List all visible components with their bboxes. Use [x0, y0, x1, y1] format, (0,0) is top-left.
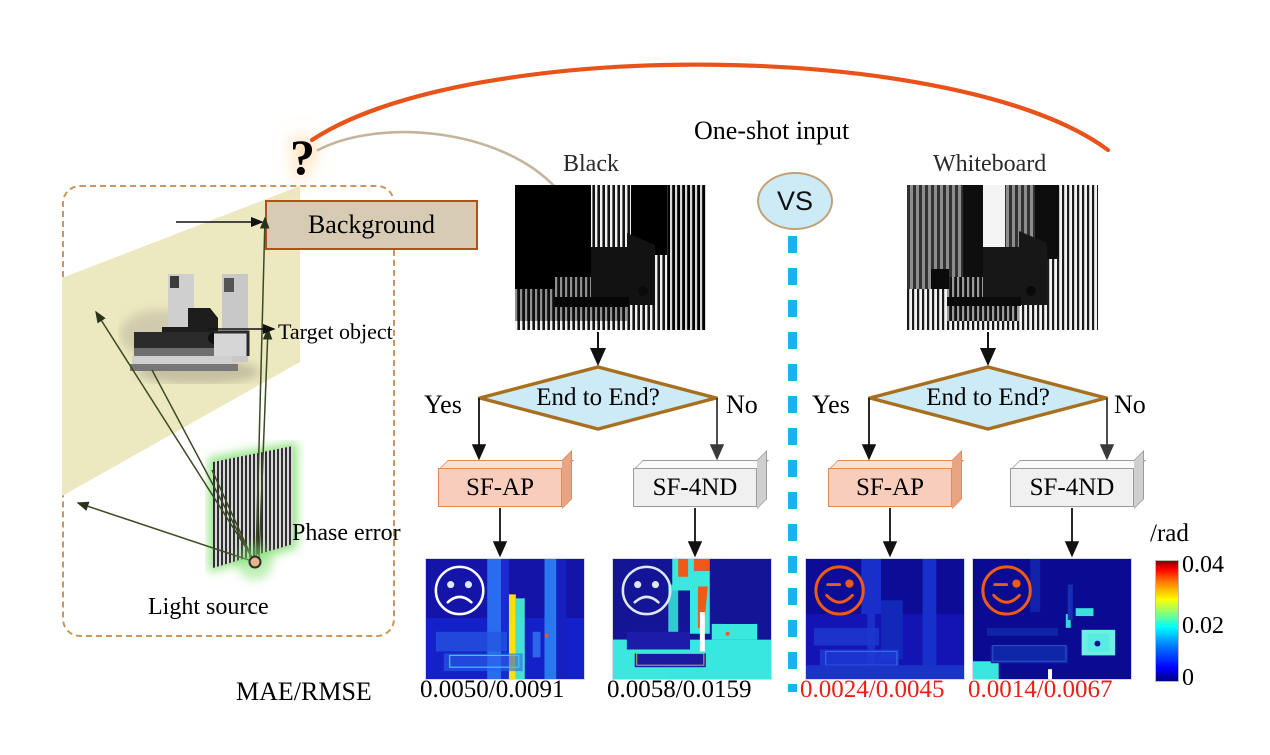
input-label-black: Black: [563, 152, 619, 176]
decision-diamond-right: End to End?: [868, 365, 1108, 431]
method-box-sf-ap-left: SF-AP: [438, 460, 570, 507]
error-map-black-sf-4nd: [612, 558, 772, 680]
branch-label-yes-right: Yes: [812, 390, 850, 420]
input-label-whiteboard: Whiteboard: [933, 152, 1046, 176]
colorbar-unit-label: /rad: [1150, 521, 1189, 546]
error-map-whiteboard-sf-ap: [805, 558, 965, 680]
error-map-black-sf-ap: [425, 558, 585, 680]
method-label-sf-4nd-left: SF-4ND: [633, 468, 757, 507]
decision-diamond-left: End to End?: [478, 365, 718, 431]
method-box-sf-4nd-right: SF-4ND: [1010, 460, 1142, 507]
mae-rmse-label: MAE/RMSE: [236, 679, 372, 705]
vertical-dashed-divider: [788, 236, 797, 692]
colorbar-tick-mid: 0.02: [1182, 613, 1224, 640]
light-source-label: Light source: [148, 595, 269, 619]
method-box-sf-ap-right: SF-AP: [828, 460, 960, 507]
input-image-black: [515, 185, 706, 330]
error-map-whiteboard-sf-4nd: [972, 558, 1132, 680]
method-box-sf-4nd-left: SF-4ND: [633, 460, 765, 507]
decision-label-right: End to End?: [868, 365, 1108, 431]
box-side-face: [952, 450, 962, 509]
vs-label: VS: [777, 186, 813, 217]
target-object-label: Target object: [278, 321, 393, 343]
decision-label-left: End to End?: [478, 365, 718, 431]
metric-whiteboard-sf-4nd: 0.0014/0.0067: [968, 676, 1112, 704]
vs-badge: VS: [757, 172, 833, 230]
phase-error-label: Phase error: [292, 521, 401, 545]
one-shot-input-label: One-shot input: [694, 118, 849, 144]
metric-black-sf-ap: 0.0050/0.0091: [420, 676, 564, 704]
branch-label-no-right: No: [1114, 390, 1146, 420]
colorbar-tick-min: 0: [1182, 665, 1194, 692]
colorbar-tick-max: 0.04: [1182, 552, 1224, 579]
box-side-face: [562, 450, 572, 509]
metric-whiteboard-sf-ap: 0.0024/0.0045: [800, 676, 944, 704]
method-label-sf-ap-left: SF-AP: [438, 468, 562, 507]
method-label-sf-4nd-right: SF-4ND: [1010, 468, 1134, 507]
branch-label-no-left: No: [726, 390, 758, 420]
colorbar: [1155, 560, 1179, 682]
branch-label-yes-left: Yes: [424, 390, 462, 420]
box-side-face: [757, 450, 767, 509]
input-image-whiteboard: [907, 185, 1098, 330]
box-side-face: [1134, 450, 1144, 509]
method-label-sf-ap-right: SF-AP: [828, 468, 952, 507]
metric-black-sf-4nd: 0.0058/0.0159: [607, 676, 751, 704]
